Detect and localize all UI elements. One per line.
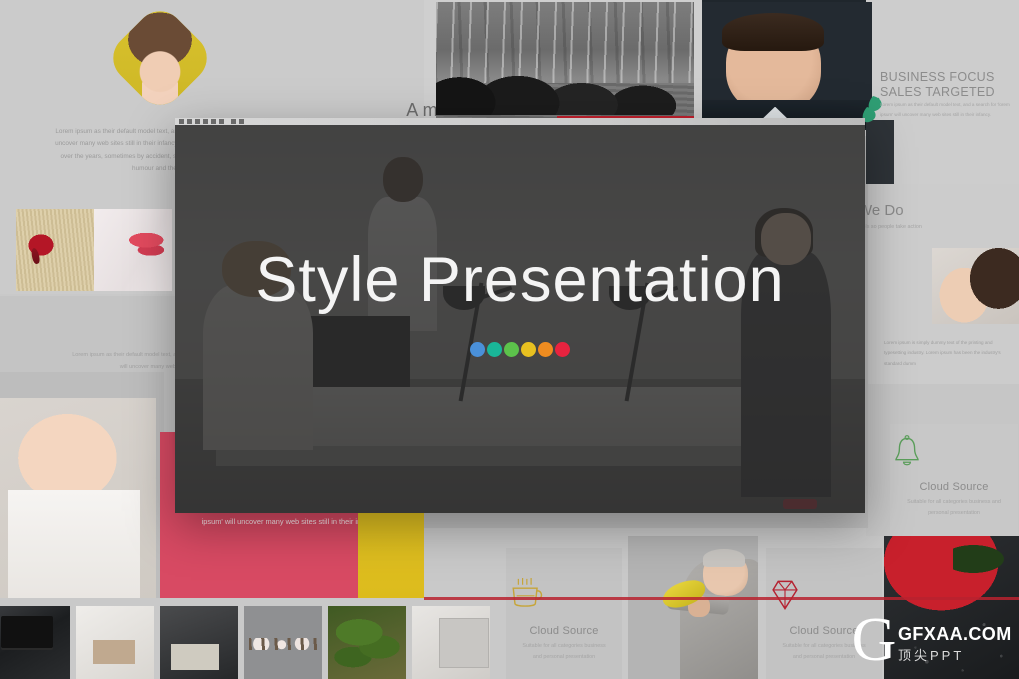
desk-workspace-thumbnail[interactable]	[76, 606, 154, 679]
color-dot-3	[504, 342, 519, 357]
business-focus-line2: SALES TARGETED	[880, 85, 1018, 100]
we-do-body: Lorem ipsum is simply dummy text of the …	[884, 338, 1012, 369]
we-do-subtitle: tools so people take action	[858, 224, 922, 230]
watermark-tagline: 顶尖PPT	[898, 645, 964, 664]
card-cloud-source-bell[interactable]: Cloud Source Suitable for all categories…	[890, 424, 1018, 536]
green-plant-thumbnail[interactable]	[328, 606, 406, 679]
business-focus-body: Lorem ipsum as their default model text,…	[880, 100, 1012, 120]
portrait-hair	[722, 13, 824, 51]
laptop-camera-thumbnail[interactable]	[0, 606, 70, 679]
cherry-blossom-thumbnail[interactable]	[244, 606, 322, 679]
business-focus-line1: BUSINESS FOCUS	[880, 70, 1018, 85]
presentation-preview-canvas: A message from Founder Lorem ipsum as th…	[0, 0, 1019, 679]
businessman-portrait-photo	[702, 2, 872, 128]
watermark-logo: G	[846, 612, 902, 668]
dark-accent-bar	[866, 120, 894, 184]
color-dot-4	[521, 342, 536, 357]
sketch-scribble-icon: ℞⃝	[862, 244, 932, 296]
cow-herd-layer	[436, 73, 694, 116]
slide-toolbar-strip	[175, 118, 865, 125]
color-dot-2	[487, 342, 502, 357]
card-title: Cloud Source	[890, 481, 1018, 493]
macbook-thumbnail[interactable]	[412, 606, 490, 679]
cow-forest-photo	[436, 2, 694, 128]
watermark-site: GFXAA.COM	[898, 624, 1012, 645]
red-divider-line	[424, 597, 1019, 600]
person-photo-left	[0, 398, 156, 598]
color-dot-5	[538, 342, 553, 357]
color-dot-6	[555, 342, 570, 357]
page-title: Style Presentation	[175, 249, 865, 312]
main-slide-preview[interactable]: Style Presentation	[175, 118, 865, 513]
thumbnail-strip	[0, 600, 504, 679]
banana-man-hair	[703, 549, 745, 568]
card-subtitle: Suitable for all categories business and…	[506, 641, 622, 663]
card-cloud-source-cup[interactable]: Cloud Source Suitable for all categories…	[506, 548, 622, 679]
card-subtitle: Suitable for all categories business and…	[890, 497, 1018, 519]
bell-icon	[890, 434, 1018, 475]
banana-gun-photo	[628, 536, 758, 679]
dark-overlay	[175, 118, 865, 513]
color-dot-1	[470, 342, 485, 357]
notebook-laptop-thumbnail[interactable]	[160, 606, 238, 679]
card-title: Cloud Source	[506, 625, 622, 637]
color-dots-row	[175, 342, 865, 357]
watermark: G GFXAA.COM 顶尖PPT	[846, 612, 1019, 672]
we-do-photo	[932, 248, 1019, 324]
business-focus-title: BUSINESS FOCUS SALES TARGETED	[880, 70, 1018, 100]
